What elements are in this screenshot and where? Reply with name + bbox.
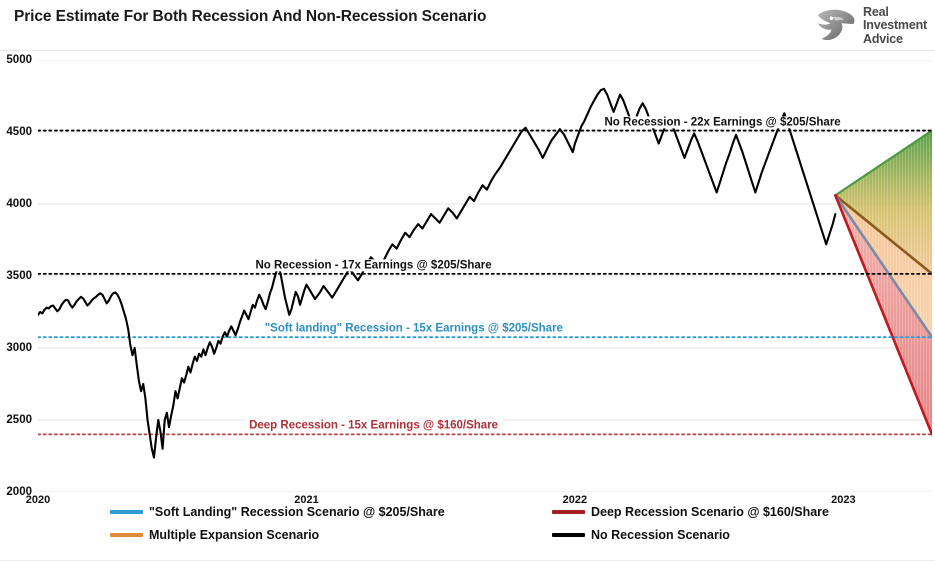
reference-lines [38, 131, 932, 435]
y-tick-4000: 4000 [6, 198, 32, 210]
brand-line-1: Real [863, 6, 927, 19]
brand-line-3: Advice [863, 33, 927, 46]
legend-swatch-2 [552, 510, 585, 514]
legend-label-1: Multiple Expansion Scenario [149, 528, 319, 542]
legend-label-0: "Soft Landing" Recession Scenario @ $205… [149, 505, 445, 519]
legend-label-2: Deep Recession Scenario @ $160/Share [591, 505, 829, 519]
annotation-soft-landing-15x: "Soft landing" Recession - 15x Earnings … [261, 323, 567, 336]
x-tick-2020: 2020 [26, 494, 50, 506]
eagle-head-icon [814, 6, 858, 46]
y-tick-5000: 5000 [6, 54, 32, 66]
annotation-no-recession-17x: No Recession - 17x Earnings @ $205/Share [251, 259, 495, 272]
y-tick-3000: 3000 [6, 342, 32, 354]
legend-label-3: No Recession Scenario [591, 528, 730, 542]
legend-item-1[interactable]: Multiple Expansion Scenario [110, 528, 319, 542]
page-title: Price Estimate For Both Recession And No… [14, 8, 486, 26]
projection-fan [835, 131, 932, 435]
y-tick-2500: 2500 [6, 414, 32, 426]
brand-logo: Real Investment Advice [814, 6, 927, 46]
brand-line-2: Investment [863, 19, 927, 32]
chart-plot-area: 2000250030003500400045005000 20202021202… [38, 60, 932, 492]
y-tick-4500: 4500 [6, 126, 32, 138]
annotation-no-recession-22x: No Recession - 22x Earnings @ $205/Share [600, 116, 844, 129]
header-divider [0, 50, 935, 51]
legend-swatch-0 [110, 510, 143, 514]
legend-swatch-3 [552, 533, 585, 537]
legend-item-3[interactable]: No Recession Scenario [552, 528, 730, 542]
chart-page: Price Estimate For Both Recession And No… [0, 0, 935, 571]
brand-name: Real Investment Advice [863, 6, 927, 46]
chart-legend: "Soft Landing" Recession Scenario @ $205… [110, 505, 870, 551]
annotation-deep-recession-15x: Deep Recession - 15x Earnings @ $160/Sha… [245, 420, 502, 433]
footer-divider [0, 560, 935, 561]
legend-item-2[interactable]: Deep Recession Scenario @ $160/Share [552, 505, 829, 519]
y-tick-3500: 3500 [6, 270, 32, 282]
legend-item-0[interactable]: "Soft Landing" Recession Scenario @ $205… [110, 505, 445, 519]
legend-swatch-1 [110, 533, 143, 537]
